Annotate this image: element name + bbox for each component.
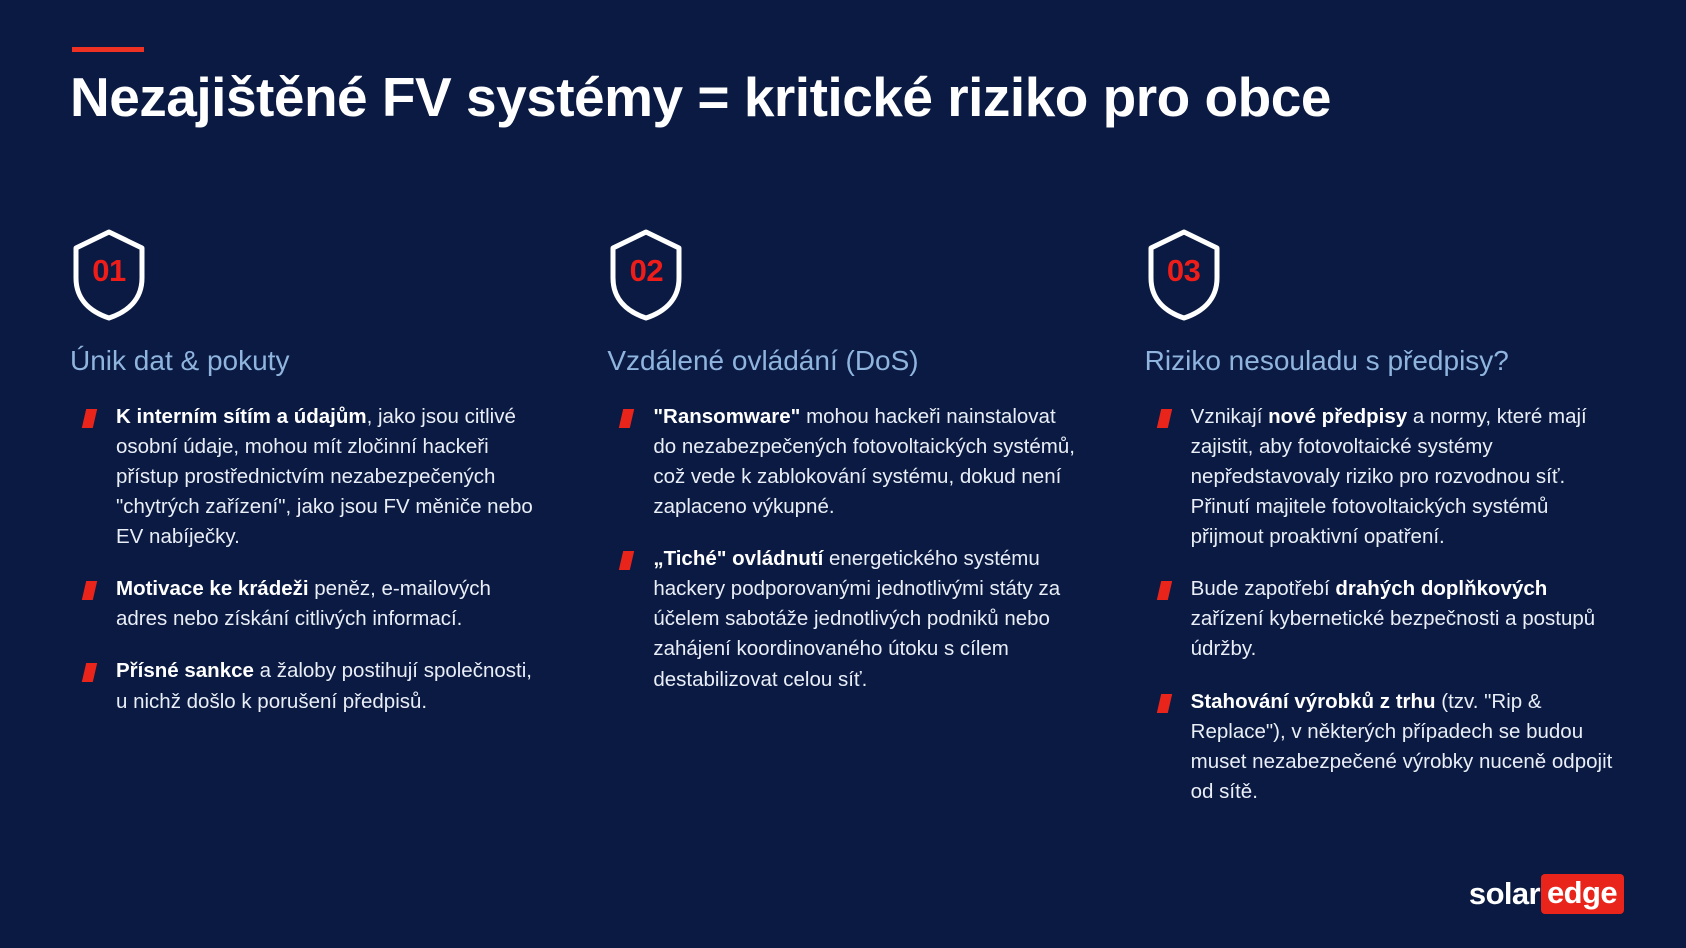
bullet-strong: nové předpisy: [1268, 405, 1407, 428]
bullet-marker-icon: [82, 581, 97, 600]
column-heading-2: Vzdálené ovládání (DoS): [607, 344, 1078, 378]
shield-badge-2: 02: [607, 228, 685, 322]
logo-text-edge: edge: [1541, 874, 1624, 914]
bullet-strong: drahých doplňkových: [1335, 577, 1547, 600]
slide-root: Nezajištěné FV systémy = kritické riziko…: [0, 0, 1686, 948]
bullet-list-1: K interním sítím a údajům, jako jsou cit…: [70, 402, 541, 717]
bullet-strong: Stahování výrobků z trhu: [1191, 690, 1436, 713]
bullet-marker-icon: [1156, 409, 1171, 428]
list-item: Motivace ke krádeži peněz, e-mailových a…: [70, 574, 541, 634]
page-title: Nezajištěné FV systémy = kritické riziko…: [70, 68, 1630, 127]
list-item: Bude zapotřebí drahých doplňkových zaříz…: [1145, 574, 1616, 664]
logo-text-solar: solar: [1469, 876, 1540, 912]
shield-number-2: 02: [607, 228, 685, 322]
bullet-marker-icon: [82, 409, 97, 428]
bullet-marker-icon: [619, 409, 634, 428]
column-heading-3: Riziko nesouladu s předpisy?: [1145, 344, 1616, 378]
list-item: Stahování výrobků z trhu (tzv. "Rip & Re…: [1145, 687, 1616, 808]
bullet-prefix: Vznikají: [1191, 405, 1268, 428]
bullet-strong: Přísné sankce: [116, 659, 254, 682]
bullet-strong: "Ransomware": [653, 405, 800, 428]
list-item: "Ransomware" mohou hackeři nainstalovat …: [607, 402, 1078, 523]
solaredge-logo: solaredge: [1469, 874, 1624, 914]
list-item: Přísné sankce a žaloby postihují společn…: [70, 656, 541, 716]
shield-number-3: 03: [1145, 228, 1223, 322]
list-item: Vznikají nové předpisy a normy, které ma…: [1145, 402, 1616, 553]
list-item: K interním sítím a údajům, jako jsou cit…: [70, 402, 541, 553]
bullet-marker-icon: [82, 663, 97, 682]
bullet-strong: K interním sítím a údajům: [116, 405, 367, 428]
bullet-prefix: Bude zapotřebí: [1191, 577, 1336, 600]
shield-badge-3: 03: [1145, 228, 1223, 322]
column-3: 03 Riziko nesouladu s předpisy? Vznikají…: [1145, 228, 1616, 807]
bullet-strong: Motivace ke krádeži: [116, 577, 309, 600]
title-accent-rule: [72, 47, 144, 52]
shield-number-1: 01: [70, 228, 148, 322]
bullet-list-3: Vznikají nové předpisy a normy, které ma…: [1145, 402, 1616, 808]
column-2: 02 Vzdálené ovládání (DoS) "Ransomware" …: [607, 228, 1078, 807]
columns-container: 01 Únik dat & pokuty K interním sítím a …: [70, 228, 1616, 807]
column-1: 01 Únik dat & pokuty K interním sítím a …: [70, 228, 541, 807]
column-heading-1: Únik dat & pokuty: [70, 344, 541, 378]
bullet-marker-icon: [1156, 581, 1171, 600]
bullet-text: zařízení kybernetické bezpečnosti a post…: [1191, 607, 1596, 660]
list-item: „Tiché" ovládnutí energetického systému …: [607, 544, 1078, 695]
shield-badge-1: 01: [70, 228, 148, 322]
bullet-list-2: "Ransomware" mohou hackeři nainstalovat …: [607, 402, 1078, 695]
bullet-marker-icon: [1156, 694, 1171, 713]
bullet-marker-icon: [619, 551, 634, 570]
bullet-strong: „Tiché" ovládnutí: [653, 547, 823, 570]
